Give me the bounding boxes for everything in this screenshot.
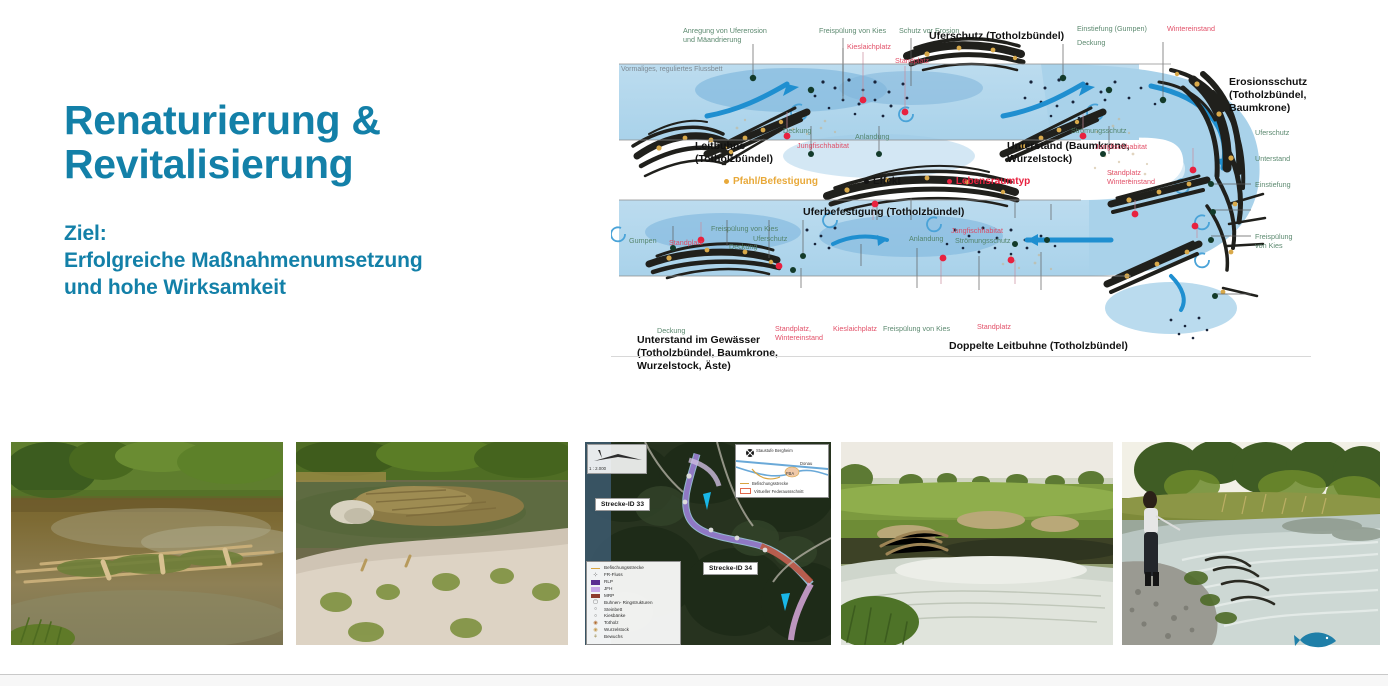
photo-1-image [11,442,283,645]
map-legend-label-2: RLP [604,579,613,586]
legend-label-effekt: Effekt [873,176,901,187]
photo-kiesbank-mit-totholz [296,442,568,645]
map-legend-swatch-befischungsstrecke-icon [591,568,600,570]
map-legend-dot-wurzelstock-icon: ◉ [591,628,600,633]
map-legend-row-4: MRP [591,593,677,600]
photo-totholzbuendel-im-bach [11,442,283,645]
page-title: Renaturierung & Revitalisierung [64,98,564,187]
goal-label: Ziel: [64,220,564,247]
goal-line-2: und hohe Wirksamkeit [64,274,564,301]
legend-item-lebensraumtyp: Lebensraumtyp [947,176,1030,187]
map-inset-swatch-1-icon [740,483,749,485]
photo-befischung-am-ufer [1122,442,1380,645]
map-legend-row-3: JFH [591,586,677,593]
map-legend-label-0: Befischungsstrecke [604,565,644,572]
map-legend-tree-bewuchs-icon: ⚘ [591,635,600,640]
map-legend-label-6: Steinbett [604,607,622,614]
map-legend-row-5: ▢ Buhnen- Ringstrukturen [591,600,677,607]
map-inset-legend-1: Befischungsstrecke [740,481,788,486]
diagram-legend: Pfahl/Befestigung Effekt Lebensraumtyp [724,176,1194,187]
photo-luftbild-karte-strecken: 1 : 2.000 Strecke-ID 33 Strecke-ID 34 St… [585,442,831,645]
photo-kiesbank-wiesenbach [841,442,1113,645]
legend-item-effekt: Effekt [864,176,901,187]
goal-line-1: Erfolgreiche Maßnahmenumsetzung [64,247,564,274]
map-inset-title: Staustufe Bergheim [756,448,793,453]
footer-strip [0,675,1388,686]
map-legend-label-3: JFH [604,586,612,593]
legend-label-lebensraumtyp: Lebensraumtyp [956,176,1030,187]
map-inset-site: FBA [786,471,794,476]
photo-5-image [1122,442,1380,645]
map-legend-row-6: ○ Steinbett [591,607,677,614]
map-inset-river: Donau [800,461,812,466]
map-legend-label-1: FR-Fluss [604,572,623,579]
title-block: Renaturierung & Revitalisierung Ziel: Er… [64,98,564,301]
legend-dot-amber-icon [724,179,729,184]
map-inset-legend-label-1: Befischungsstrecke [752,481,788,486]
legend-item-pfahl: Pfahl/Befestigung [724,176,818,187]
legend-label-pfahl: Pfahl/Befestigung [733,176,818,187]
map-tag-strecke-33[interactable]: Strecke-ID 33 [595,498,650,511]
map-legend-label-5: Buhnen- Ringstrukturen [604,600,653,607]
map-inset-legend-2: Virtueller Federaussschnitt [740,488,804,494]
map-legend-row-7: ○ Kiesbänke [591,613,677,620]
legend-dot-black-icon [864,179,869,184]
map-legend: Befischungsstrecke ⊹ FR-Fluss RLP JFH MR… [586,561,681,645]
map-inset-legend-label-2: Virtueller Federaussschnitt [754,489,804,494]
map-legend-row-0: Befischungsstrecke [591,565,677,572]
goal-block: Ziel: Erfolgreiche Maßnahmenumsetzung un… [64,220,564,302]
photo-2-image [296,442,568,645]
map-legend-circle-kiesbaenke-icon: ○ [591,614,600,619]
fish-icon [1294,628,1338,650]
map-legend-row-1: ⊹ FR-Fluss [591,572,677,579]
map-legend-dash-icon: ⊹ [591,573,600,578]
map-legend-swatch-jfh-icon [591,587,600,592]
map-legend-row-2: RLP [591,579,677,586]
fish-logo [1294,628,1338,650]
map-tag-strecke-34[interactable]: Strecke-ID 34 [703,562,758,575]
legend-dot-red-icon [947,179,952,184]
map-legend-row-9: ◉ Wurzelstock [591,627,677,634]
map-legend-row-8: ◉ Totholz [591,620,677,627]
map-scale-label: 1 : 2.000 [589,466,606,471]
map-legend-label-9: Wurzelstock [604,627,629,634]
map-legend-row-10: ⚘ Bewuchs [591,634,677,641]
map-legend-dot-totholz-icon: ◉ [591,621,600,626]
map-overview-inset: Staustufe Bergheim Donau FBA Befischungs… [735,444,829,498]
map-legend-label-8: Totholz [604,620,619,627]
map-legend-label-7: Kiesbänke [604,613,625,620]
map-legend-swatch-mrp-icon [591,594,600,599]
photo-strip: 1 : 2.000 Strecke-ID 33 Strecke-ID 34 St… [0,442,1388,645]
map-legend-label-10: Bewuchs [604,634,623,641]
slide-renaturierung: Renaturierung & Revitalisierung Ziel: Er… [0,0,1388,686]
map-legend-label-4: MRP [604,593,614,600]
map-inset-swatch-2-icon [740,488,751,494]
map-legend-circle-steinbett-icon: ○ [591,607,600,612]
photo-4-image [841,442,1113,645]
map-legend-swatch-rlp-icon [591,580,600,585]
map-legend-square-icon: ▢ [591,601,600,606]
diagram-bottom-rule [611,356,1311,357]
river-restoration-diagram: Vormaliges, reguliertes Flussbett Anregu… [611,8,1311,360]
